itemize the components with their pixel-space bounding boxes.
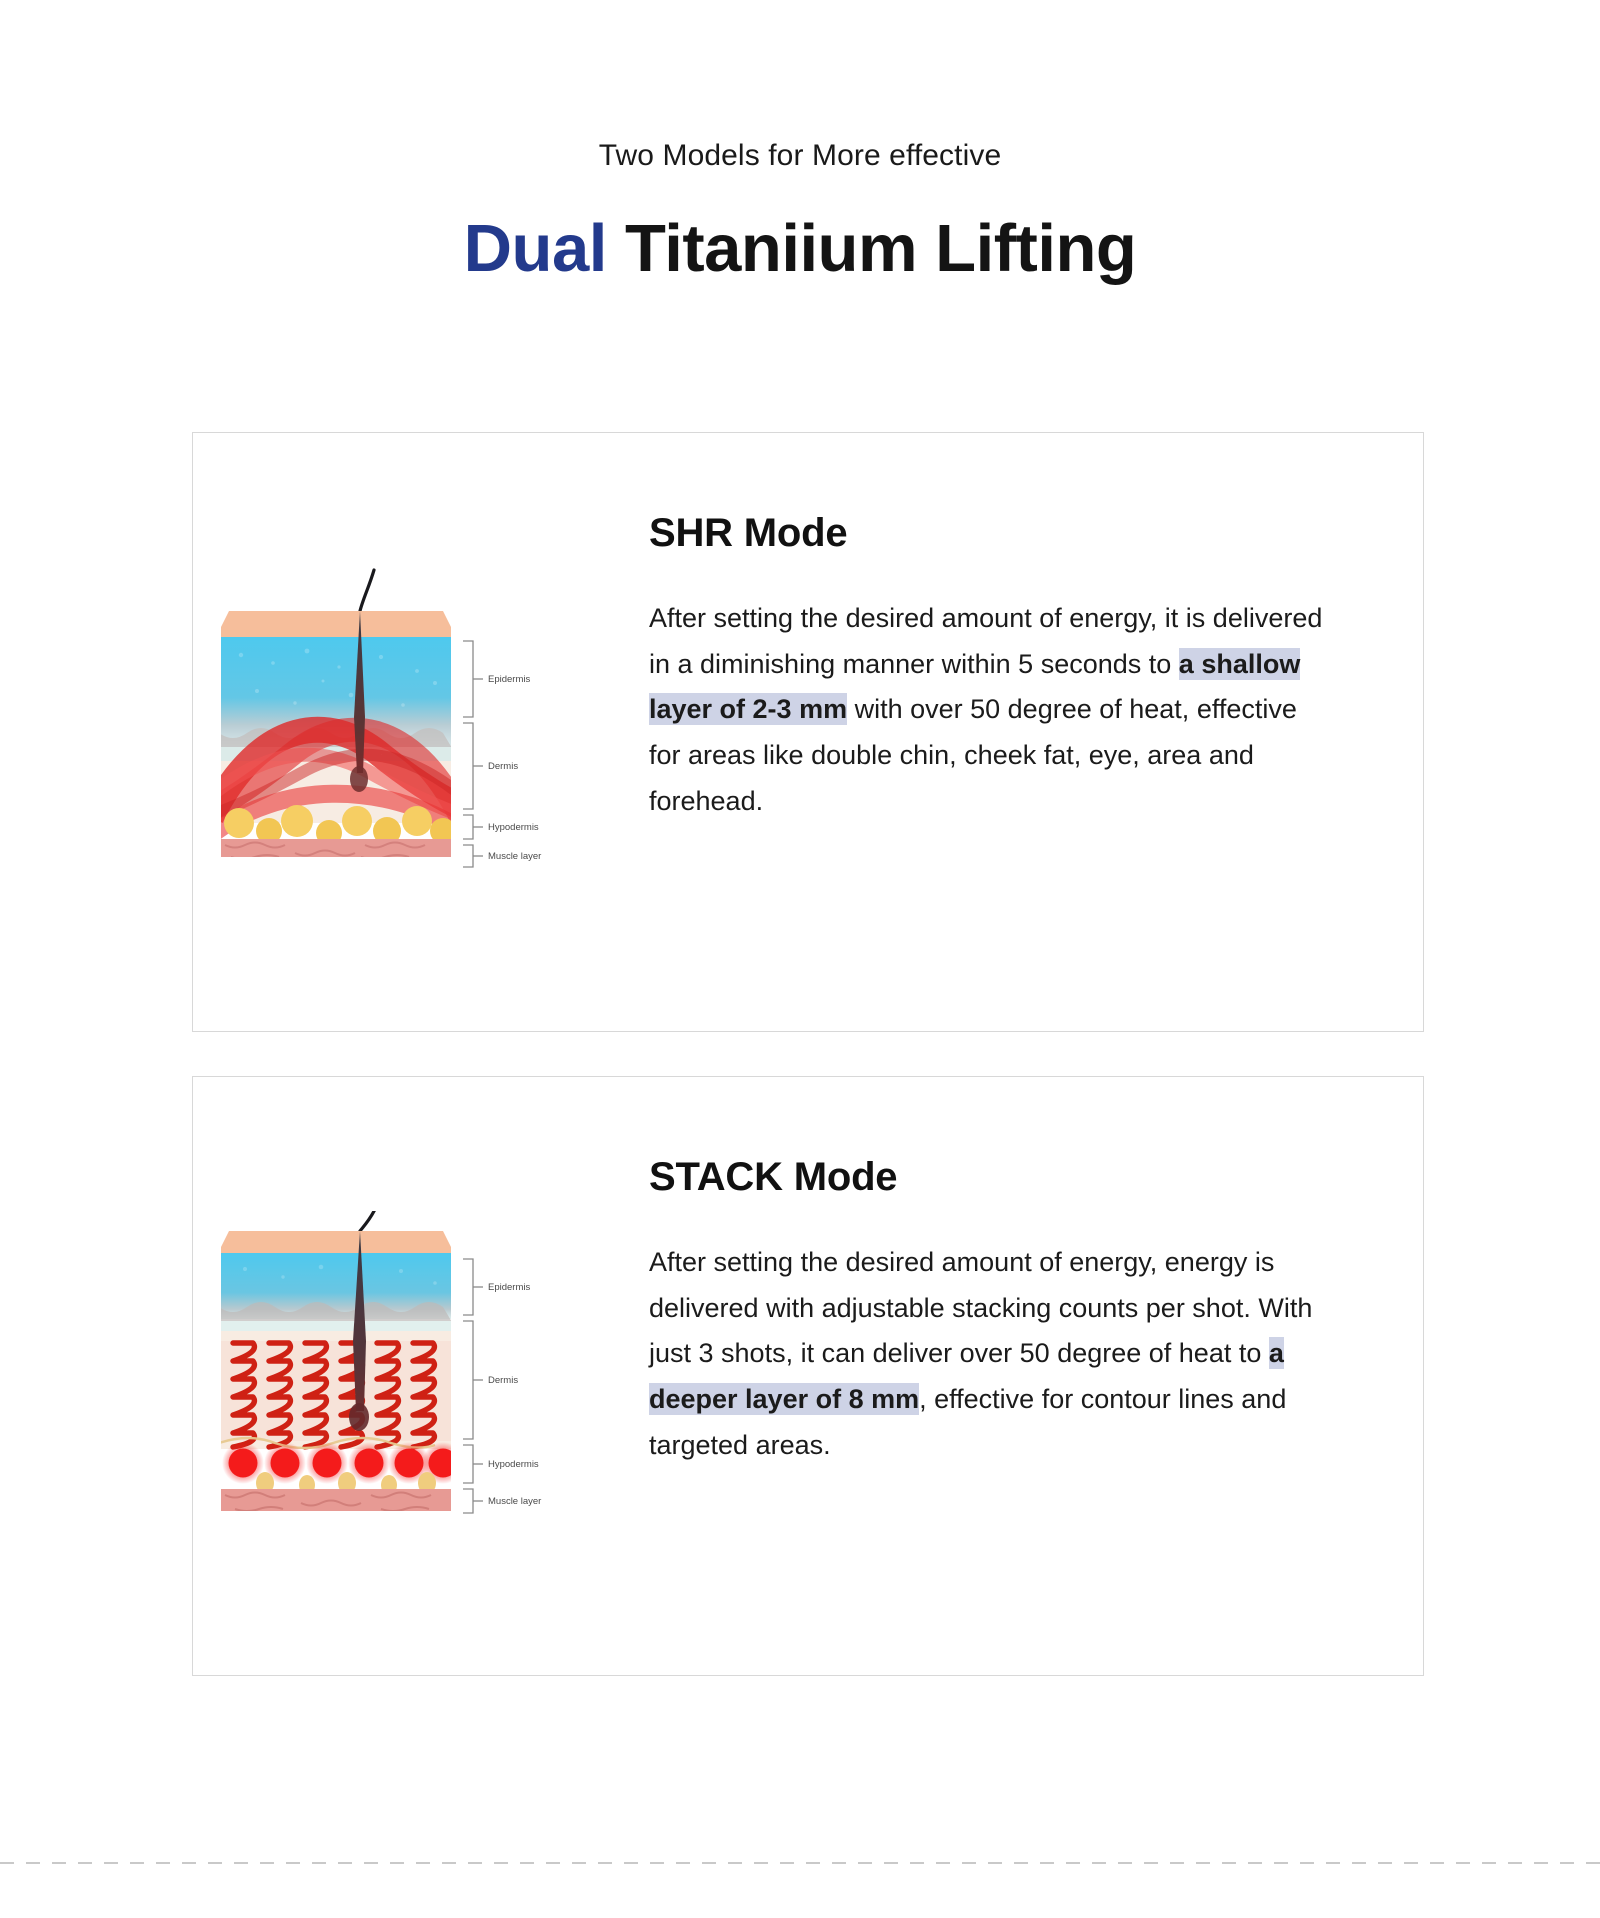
hair-shaft-icon	[360, 570, 374, 611]
mode-card-stack: Epidermis Dermis Hypodermis Muscle layer…	[192, 1076, 1424, 1676]
layer-labels: Epidermis Dermis Hypodermis Muscle layer	[488, 674, 541, 862]
desc-segment-1: After setting the desired amount of ener…	[649, 1247, 1312, 1368]
label-hypodermis: Hypodermis	[488, 822, 539, 833]
title-accent-word: Dual	[464, 211, 607, 286]
layer-brackets	[463, 1259, 483, 1513]
skin-block	[211, 607, 461, 861]
hair-shaft-icon	[360, 1211, 377, 1231]
layer-labels: Epidermis Dermis Hypodermis Muscle layer	[488, 1282, 541, 1507]
label-epidermis: Epidermis	[488, 1282, 530, 1293]
card-body-stack: STACK Mode After setting the desired amo…	[613, 1077, 1423, 1468]
mode-card-shr: Epidermis Dermis Hypodermis Muscle layer…	[192, 432, 1424, 1032]
page-divider	[0, 1862, 1600, 1864]
label-dermis: Dermis	[488, 761, 518, 772]
eyebrow-text: Two Models for More effective	[0, 138, 1600, 174]
label-dermis: Dermis	[488, 1375, 518, 1386]
page-title: Dual Titaniium Lifting	[0, 212, 1600, 286]
figure-stack: Epidermis Dermis Hypodermis Muscle layer	[193, 1077, 613, 1675]
mode-description-stack: After setting the desired amount of ener…	[649, 1240, 1327, 1468]
label-epidermis: Epidermis	[488, 674, 530, 685]
figure-shr: Epidermis Dermis Hypodermis Muscle layer	[193, 433, 613, 1031]
skin-diagram-stack: Epidermis Dermis Hypodermis Muscle layer	[211, 1211, 601, 1541]
label-muscle-layer: Muscle layer	[488, 851, 541, 862]
mode-title-shr: SHR Mode	[649, 511, 1327, 556]
page-header: Two Models for More effective Dual Titan…	[0, 0, 1600, 286]
mode-description-shr: After setting the desired amount of ener…	[649, 596, 1327, 824]
skin-cross-section-stack-svg: Epidermis Dermis Hypodermis Muscle layer	[211, 1211, 601, 1541]
card-body-shr: SHR Mode After setting the desired amoun…	[613, 433, 1423, 824]
skin-diagram-shr: Epidermis Dermis Hypodermis Muscle layer	[211, 567, 601, 897]
skin-cross-section-shr-svg: Epidermis Dermis Hypodermis Muscle layer	[211, 567, 601, 897]
title-rest: Titaniium Lifting	[625, 211, 1136, 286]
poster-page: Two Models for More effective Dual Titan…	[0, 0, 1600, 1918]
layer-brackets	[463, 641, 483, 867]
skin-block	[219, 1227, 464, 1513]
label-hypodermis: Hypodermis	[488, 1459, 539, 1470]
mode-title-stack: STACK Mode	[649, 1155, 1327, 1200]
label-muscle-layer: Muscle layer	[488, 1496, 541, 1507]
